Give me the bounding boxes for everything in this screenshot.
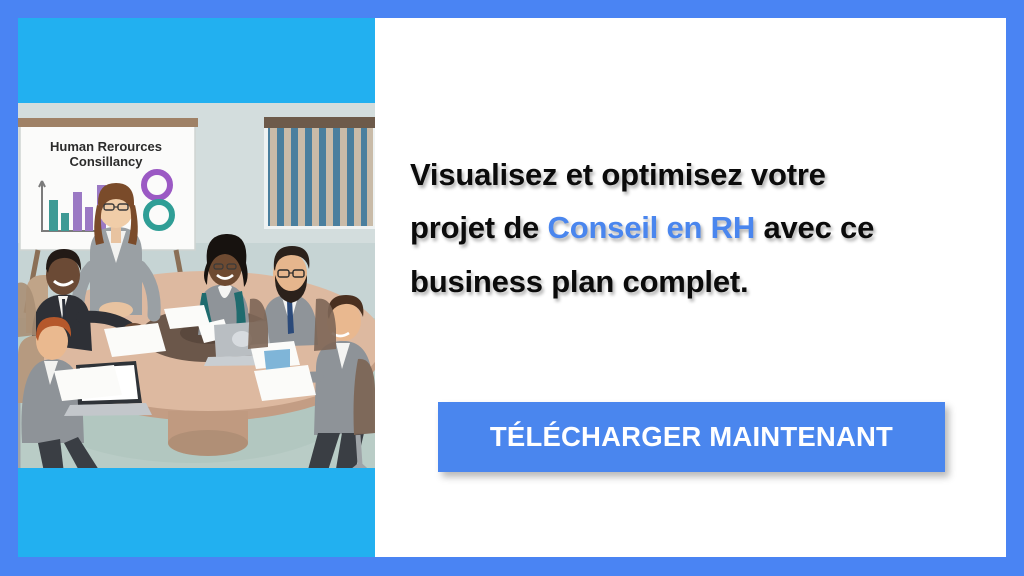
- headline-line-1: Visualisez et optimisez votre: [410, 148, 970, 201]
- headline-line-2-prefix: projet de: [410, 210, 548, 245]
- right-content-panel: Visualisez et optimisez votre projet de …: [375, 18, 1006, 557]
- headline: Visualisez et optimisez votre projet de …: [410, 148, 970, 308]
- window-blinds: [264, 117, 375, 229]
- headline-line-3: business plan complet.: [410, 255, 970, 308]
- download-now-button[interactable]: TÉLÉCHARGER MAINTENANT: [438, 402, 945, 472]
- headline-line-2-suffix: avec ce: [755, 210, 874, 245]
- svg-text:Human Rerources: Human Rerources: [50, 139, 162, 154]
- ad-banner: Human Rerources Consillancy: [0, 0, 1024, 576]
- headline-line-3-text: business plan complet.: [410, 264, 748, 299]
- svg-text:Consillancy: Consillancy: [70, 154, 144, 169]
- headline-accent-text: Conseil en RH: [548, 210, 756, 245]
- meeting-room-illustration: Human Rerources Consillancy: [18, 103, 375, 468]
- headline-line-1-text: Visualisez et optimisez votre: [410, 157, 826, 192]
- download-now-button-label: TÉLÉCHARGER MAINTENANT: [490, 421, 893, 453]
- left-image-panel: Human Rerources Consillancy: [18, 18, 375, 557]
- headline-line-2: projet de Conseil en RH avec ce: [410, 201, 970, 254]
